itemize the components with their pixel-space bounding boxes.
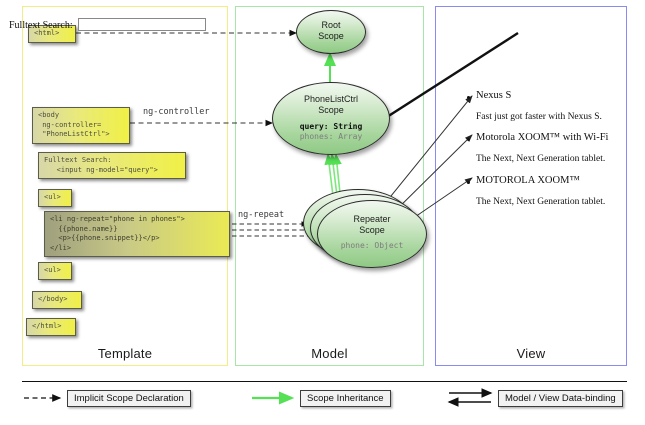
legend-item-implicit-scope-declaration: Implicit Scope Declaration — [67, 390, 191, 407]
legend-glyph-double-arrow — [449, 393, 491, 402]
legend-item-scope-inheritance: Scope Inheritance — [300, 390, 391, 407]
legend-glyphs — [0, 0, 645, 425]
diagram-canvas: Template Model View ng-app — [0, 0, 645, 425]
legend-item-model-view-data-binding: Model / View Data-binding — [498, 390, 623, 407]
